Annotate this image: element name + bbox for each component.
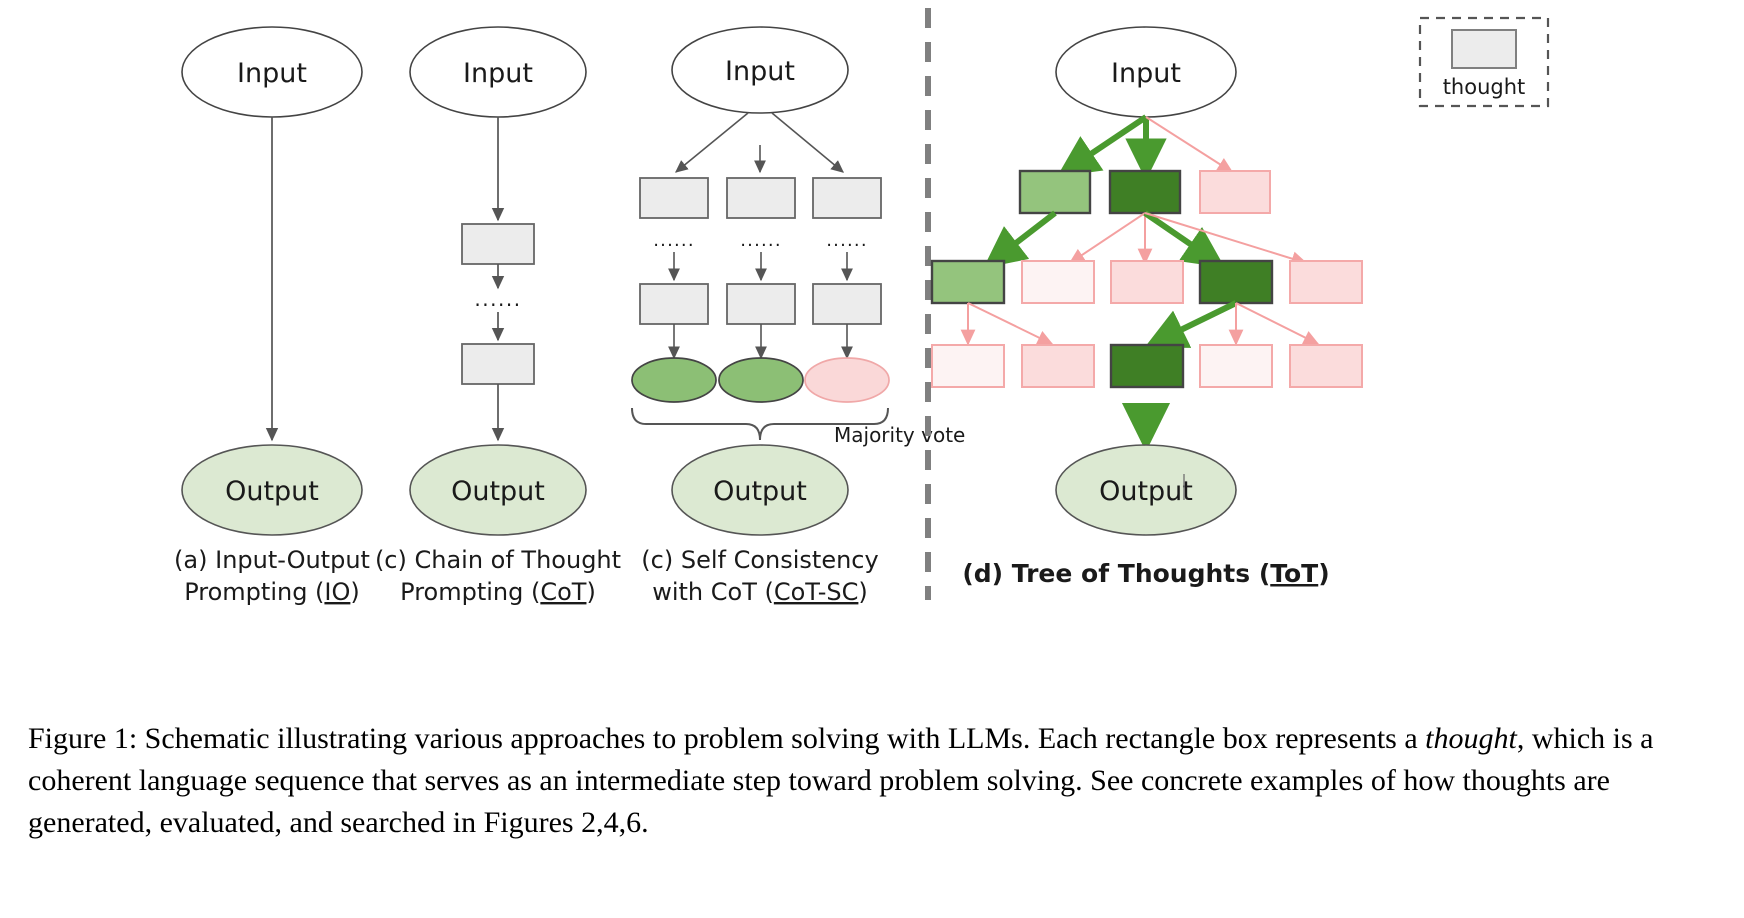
cotsc-result-node-2 bbox=[719, 358, 803, 402]
cot-output-label: Output bbox=[451, 476, 545, 507]
tot-edge-l1n1-l2n1 bbox=[990, 213, 1055, 263]
legend: thought bbox=[1420, 18, 1548, 106]
cotsc-branch-arrow-left bbox=[676, 113, 748, 172]
figure-caption-part1: Schematic illustrating various approache… bbox=[137, 722, 1425, 755]
legend-thought-label: thought bbox=[1443, 75, 1526, 99]
tot-edge-l1n2-l2n2 bbox=[1070, 213, 1145, 263]
io-caption-line1: (a) Input-Output bbox=[174, 546, 370, 574]
figure-canvas: Input Output (a) Input-Output Prompting … bbox=[0, 0, 1744, 700]
tot-edge-l2n4-l3n5 bbox=[1236, 303, 1318, 344]
panel-cot: Input ...... Output (c) Chain of Thought… bbox=[375, 27, 621, 606]
tot-edge-l1n2-l2n4 bbox=[1145, 213, 1218, 263]
cotsc-thought-box-r1c1 bbox=[640, 178, 708, 218]
cotsc-thought-box-r2c3 bbox=[813, 284, 881, 324]
cotsc-caption-line1: (c) Self Consistency bbox=[641, 546, 878, 574]
io-output-label: Output bbox=[225, 476, 319, 507]
tot-output-label: Output bbox=[1099, 476, 1193, 507]
cotsc-majority-vote-label: Majority vote bbox=[834, 423, 965, 447]
cotsc-result-node-3 bbox=[805, 358, 889, 402]
tot-node-l2n4 bbox=[1200, 261, 1272, 303]
tot-input-label: Input bbox=[1111, 58, 1181, 89]
panel-io: Input Output (a) Input-Output Prompting … bbox=[174, 27, 370, 606]
tot-node-l3n4 bbox=[1200, 345, 1272, 387]
tot-ellipsis: ...... bbox=[1124, 393, 1169, 415]
tot-edge-l1n2-l2n5 bbox=[1145, 213, 1306, 263]
tot-node-l3n2 bbox=[1022, 345, 1094, 387]
tot-edge-root-l1n3 bbox=[1146, 117, 1232, 172]
legend-thought-swatch bbox=[1452, 30, 1516, 68]
cotsc-input-label: Input bbox=[725, 56, 795, 87]
cotsc-branch-arrow-right bbox=[772, 113, 843, 172]
tot-node-l2n3 bbox=[1111, 261, 1183, 303]
figure-caption: Figure 1: Schematic illustrating various… bbox=[28, 718, 1718, 844]
figure-caption-prefix: Figure 1: bbox=[28, 722, 137, 755]
tot-node-l3n5 bbox=[1290, 345, 1362, 387]
cot-caption-line1: (c) Chain of Thought bbox=[375, 546, 621, 574]
figure-root: Input Output (a) Input-Output Prompting … bbox=[0, 0, 1744, 918]
tot-node-l1n1 bbox=[1020, 171, 1090, 213]
cotsc-thought-box-r1c3 bbox=[813, 178, 881, 218]
tot-edge-l2n1-l3n2 bbox=[968, 303, 1052, 344]
cotsc-output-label: Output bbox=[713, 476, 807, 507]
cotsc-caption-line2: with CoT (CoT-SC) bbox=[652, 578, 868, 606]
tot-edge-root-l1n1 bbox=[1064, 117, 1146, 172]
tot-node-l1n3 bbox=[1200, 171, 1270, 213]
tot-node-l1n2 bbox=[1110, 171, 1180, 213]
figure-caption-italic-thought: thought bbox=[1425, 722, 1517, 755]
tot-edge-l2n4-l3n3 bbox=[1152, 303, 1236, 344]
cotsc-ellipsis-3: ...... bbox=[826, 230, 868, 251]
cot-thought-box-2 bbox=[462, 344, 534, 384]
tot-caption: (d) Tree of Thoughts (ToT) bbox=[962, 559, 1329, 588]
tot-node-l3n3 bbox=[1111, 345, 1183, 387]
tot-node-l2n2 bbox=[1022, 261, 1094, 303]
io-input-label: Input bbox=[237, 58, 307, 89]
cotsc-result-node-1 bbox=[632, 358, 716, 402]
panel-tot: Input ...... bbox=[932, 27, 1362, 588]
tot-node-l2n5 bbox=[1290, 261, 1362, 303]
cotsc-thought-box-r2c1 bbox=[640, 284, 708, 324]
cot-input-label: Input bbox=[463, 58, 533, 89]
cot-ellipsis: ...... bbox=[474, 287, 521, 311]
cotsc-thought-box-r1c2 bbox=[727, 178, 795, 218]
tot-node-l3n1 bbox=[932, 345, 1004, 387]
io-caption-line2: Prompting (IO) bbox=[184, 578, 360, 606]
cotsc-ellipsis-2: ...... bbox=[740, 230, 782, 251]
cot-caption-line2: Prompting (CoT) bbox=[400, 578, 596, 606]
cot-thought-box-1 bbox=[462, 224, 534, 264]
cotsc-thought-box-r2c2 bbox=[727, 284, 795, 324]
cotsc-ellipsis-1: ...... bbox=[653, 230, 695, 251]
panel-cot-sc: Input ...... ...... ...... Majority vote… bbox=[632, 27, 965, 606]
tot-node-l2n1 bbox=[932, 261, 1004, 303]
